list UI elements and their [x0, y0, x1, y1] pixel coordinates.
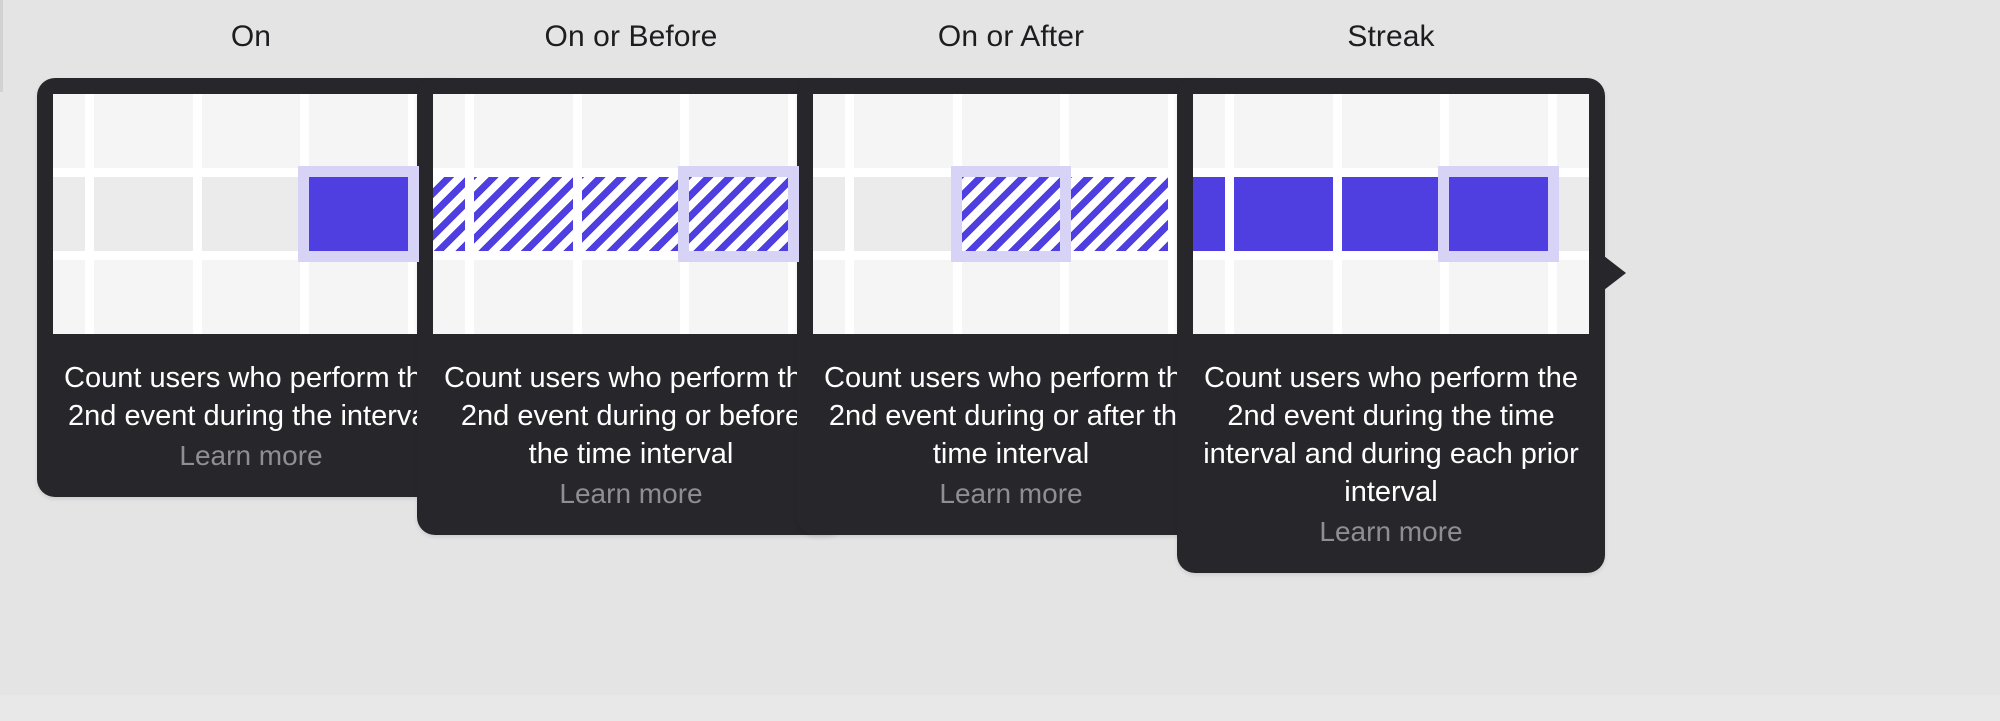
grid-cell: [202, 94, 301, 168]
column-streak: Streak: [1176, 22, 1606, 573]
grid-cell: [433, 94, 465, 168]
grid-cell: [1557, 94, 1589, 168]
grid-cell: [94, 94, 193, 168]
grid-cell-filled: [1342, 177, 1441, 251]
column-title-streak: Streak: [1347, 22, 1434, 52]
grid-cell: [309, 94, 408, 168]
diagram-on: [53, 94, 449, 334]
diagram-streak: [1193, 94, 1589, 334]
grid-cell: [1193, 94, 1225, 168]
grid-cell: [1557, 260, 1589, 334]
diagram-on-or-before: [433, 94, 829, 334]
column-on-or-after: On or After: [796, 22, 1226, 535]
card-tail-icon: [1604, 256, 1626, 290]
learn-more-link[interactable]: Learn more: [53, 438, 449, 475]
grid-cell-filled: [1193, 177, 1225, 251]
grid-cell: [309, 260, 408, 334]
grid-cell-highlighted: [309, 177, 408, 251]
grid-cell: [582, 94, 681, 168]
learn-more-link[interactable]: Learn more: [813, 476, 1209, 513]
column-on: On: [36, 22, 466, 497]
grid-cell: [53, 94, 85, 168]
grid-cell-filled: [1069, 177, 1168, 251]
card-description: Count users who perform the 2nd event du…: [813, 360, 1209, 474]
grid-cell: [1069, 260, 1168, 334]
grid-cell: [854, 94, 953, 168]
grid-cell: [474, 260, 573, 334]
grid-cell: [202, 177, 301, 251]
grid-cell: [202, 260, 301, 334]
grid-cell: [962, 94, 1061, 168]
card-on[interactable]: Count users who perform the 2nd event du…: [37, 78, 465, 497]
grid-cell: [53, 177, 85, 251]
card-description: Count users who perform the 2nd event du…: [53, 360, 449, 436]
grid-cell-highlighted: [689, 177, 788, 251]
grid-cell: [1234, 260, 1333, 334]
grid-cell: [813, 260, 845, 334]
column-on-or-before: On or Before: [416, 22, 846, 535]
grid-cell: [1342, 260, 1441, 334]
grid-cell: [1557, 177, 1589, 251]
grid-cell: [1342, 94, 1441, 168]
diagram-on-or-after: [813, 94, 1209, 334]
column-title-on-or-after: On or After: [938, 22, 1084, 52]
grid-cell: [962, 260, 1061, 334]
learn-more-link[interactable]: Learn more: [433, 476, 829, 513]
grid-cell-filled: [433, 177, 465, 251]
grid-cell: [813, 177, 845, 251]
card-on-or-after[interactable]: Count users who perform the 2nd event du…: [797, 78, 1225, 535]
column-title-on-or-before: On or Before: [545, 22, 718, 52]
card-description: Count users who perform the 2nd event du…: [433, 360, 829, 474]
card-on-or-before[interactable]: Count users who perform the 2nd event du…: [417, 78, 845, 535]
grid-cell: [1234, 94, 1333, 168]
learn-more-link[interactable]: Learn more: [1193, 514, 1589, 551]
grid-cell: [1449, 94, 1548, 168]
grid-cell-filled: [1234, 177, 1333, 251]
grid-cell-filled: [474, 177, 573, 251]
grid-cell: [689, 94, 788, 168]
grid-cell-filled: [582, 177, 681, 251]
grid-cell: [94, 177, 193, 251]
grid-cell: [689, 260, 788, 334]
grid-cell: [1193, 260, 1225, 334]
grid-cell: [53, 260, 85, 334]
column-title-on: On: [231, 22, 271, 52]
card-streak[interactable]: Count users who perform the 2nd event du…: [1177, 78, 1605, 573]
grid-cell: [854, 260, 953, 334]
grid-cell: [1069, 94, 1168, 168]
grid-cell: [854, 177, 953, 251]
grid-cell: [813, 94, 845, 168]
grid-cell-highlighted: [962, 177, 1061, 251]
grid-cell: [433, 260, 465, 334]
grid-cell: [94, 260, 193, 334]
grid-cell-highlighted: [1449, 177, 1548, 251]
grid-cell: [582, 260, 681, 334]
card-description: Count users who perform the 2nd event du…: [1193, 360, 1589, 512]
grid-cell: [474, 94, 573, 168]
comparison-board: On: [0, 0, 2000, 721]
grid-cell: [1449, 260, 1548, 334]
